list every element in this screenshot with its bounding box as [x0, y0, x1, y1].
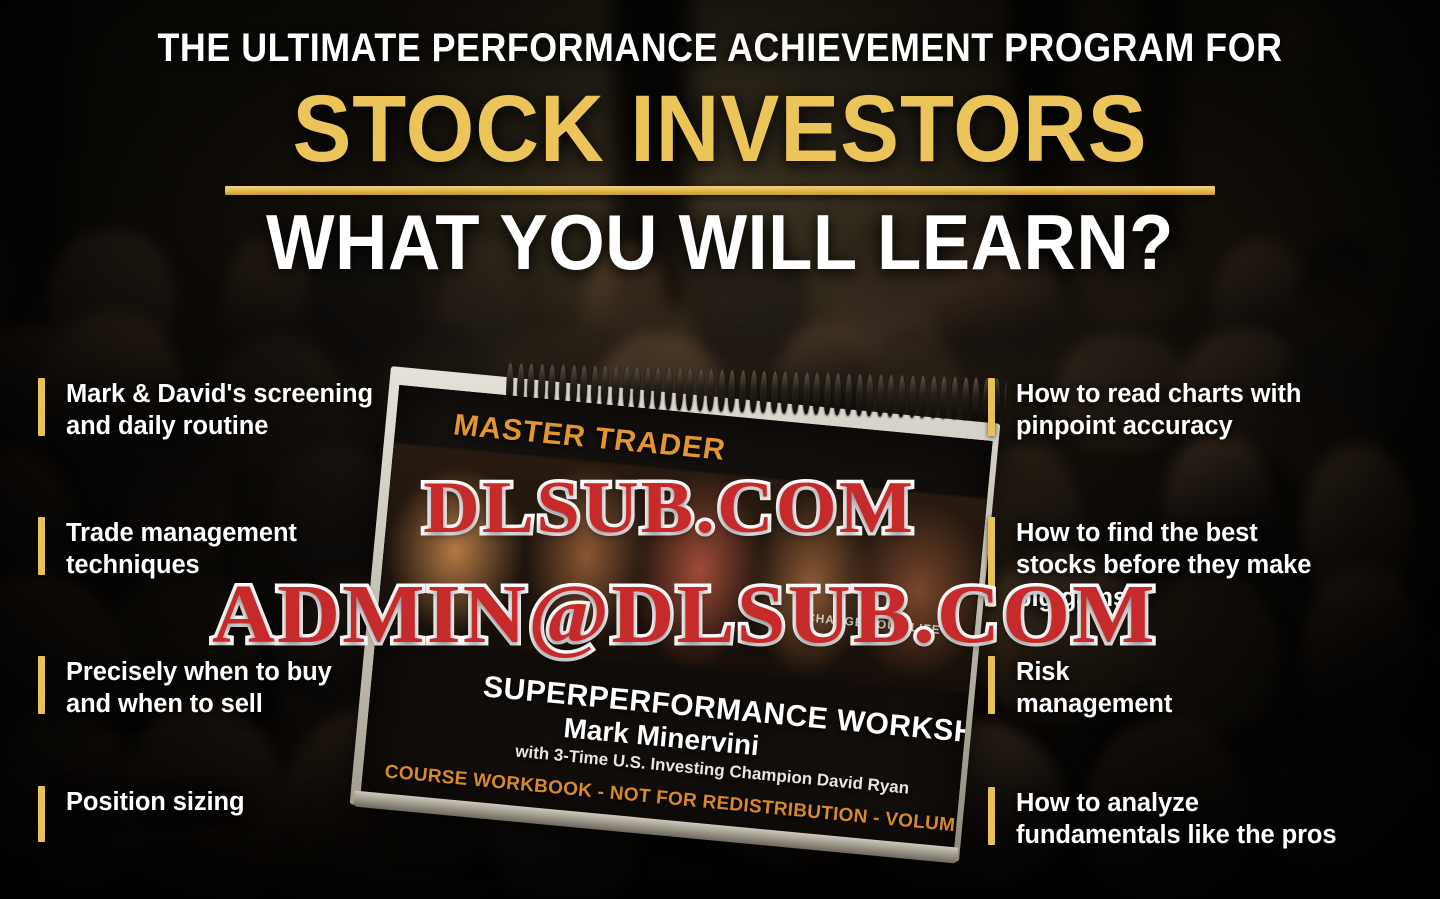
spiral-coil — [887, 375, 895, 417]
list-item-line1: How to analyze — [1016, 789, 1199, 817]
spiral-coil — [739, 370, 747, 412]
spiral-coil — [781, 371, 789, 413]
spiral-coil — [749, 370, 757, 412]
spiral-coil — [696, 369, 704, 411]
list-item-label: Mark & David's screening and daily routi… — [66, 378, 373, 443]
kicker-text: THE ULTIMATE PERFORMANCE ACHIEVEMENT PRO… — [76, 28, 1365, 68]
bullet-marker-icon — [988, 787, 995, 845]
spiral-coil — [770, 371, 778, 413]
spiral-coil — [971, 377, 979, 419]
spiral-coil — [855, 374, 863, 416]
list-item: How to analyze fundamentals like the pro… — [988, 787, 1440, 852]
list-item-label: Precisely when to buy and when to sell — [66, 656, 332, 721]
spiral-coil — [791, 372, 799, 414]
list-item-line2: pinpoint accuracy — [1016, 412, 1233, 440]
promo-banner: THE ULTIMATE PERFORMANCE ACHIEVEMENT PRO… — [0, 0, 1440, 899]
spiral-coil — [844, 373, 852, 415]
spiral-coil — [686, 368, 694, 410]
spiral-coil — [908, 375, 916, 417]
watermark-site: DLSUB.COM — [423, 466, 915, 551]
bullet-marker-icon — [38, 656, 45, 714]
spiral-coil — [643, 367, 651, 409]
spiral-coil — [897, 375, 905, 417]
list-item-line2: and daily routine — [66, 412, 268, 440]
list-item: Position sizing — [38, 786, 508, 842]
spiral-coil — [675, 368, 683, 410]
list-item: Risk management — [988, 656, 1440, 721]
spiral-coil — [601, 366, 609, 408]
list-item: Mark & David's screening and daily routi… — [38, 378, 508, 443]
list-item-line2: management — [1016, 690, 1172, 718]
list-item-label: How to analyze fundamentals like the pro… — [1016, 787, 1336, 852]
list-item-label: How to read charts with pinpoint accurac… — [1016, 378, 1301, 443]
spiral-coil — [834, 373, 842, 415]
watermark-email: ADMIN@DLSUB.COM — [212, 566, 1157, 663]
list-item-line2: and when to sell — [66, 690, 263, 718]
spiral-coil — [950, 377, 958, 419]
subtitle: WHAT YOU WILL LEARN? — [50, 203, 1389, 281]
spiral-coil — [611, 366, 619, 408]
list-item-line1: How to find the best — [1016, 519, 1258, 547]
list-item-line1: Mark & David's screening — [66, 380, 373, 408]
spiral-coil — [876, 374, 884, 416]
bullet-marker-icon — [38, 378, 45, 436]
list-item: Precisely when to buy and when to sell — [38, 656, 508, 721]
list-item-line1: Trade management — [66, 519, 297, 547]
spiral-coil — [961, 377, 969, 419]
spiral-coil — [760, 371, 768, 413]
spiral-coil — [664, 368, 672, 410]
bullet-marker-icon — [988, 656, 995, 714]
list-item-label: Risk management — [1016, 656, 1172, 721]
bullet-marker-icon — [38, 517, 45, 575]
spiral-coil — [717, 369, 725, 411]
list-item-line1: Position sizing — [66, 788, 244, 816]
spiral-coil — [728, 370, 736, 412]
list-item-label: Position sizing — [66, 786, 244, 818]
list-item-line2: techniques — [66, 551, 200, 579]
spiral-coil — [622, 366, 630, 408]
spiral-coil — [707, 369, 715, 411]
page-title: STOCK INVESTORS — [50, 82, 1389, 177]
spiral-coil — [823, 373, 831, 415]
spiral-coil — [590, 365, 598, 407]
spiral-coil — [580, 365, 588, 407]
list-item-line2: fundamentals like the pros — [1016, 821, 1336, 849]
spiral-coil — [919, 376, 927, 418]
spiral-coil — [802, 372, 810, 414]
spiral-coil — [633, 367, 641, 409]
bullet-marker-icon — [38, 786, 45, 842]
header: THE ULTIMATE PERFORMANCE ACHIEVEMENT PRO… — [0, 0, 1440, 281]
list-item-line1: How to read charts with — [1016, 380, 1301, 408]
spiral-coil — [866, 374, 874, 416]
bullet-marker-icon — [988, 378, 995, 436]
spiral-coil — [929, 376, 937, 418]
list-item: How to read charts with pinpoint accurac… — [988, 378, 1440, 443]
spiral-coil — [813, 372, 821, 414]
spiral-coil — [940, 376, 948, 418]
spiral-coil — [654, 367, 662, 409]
